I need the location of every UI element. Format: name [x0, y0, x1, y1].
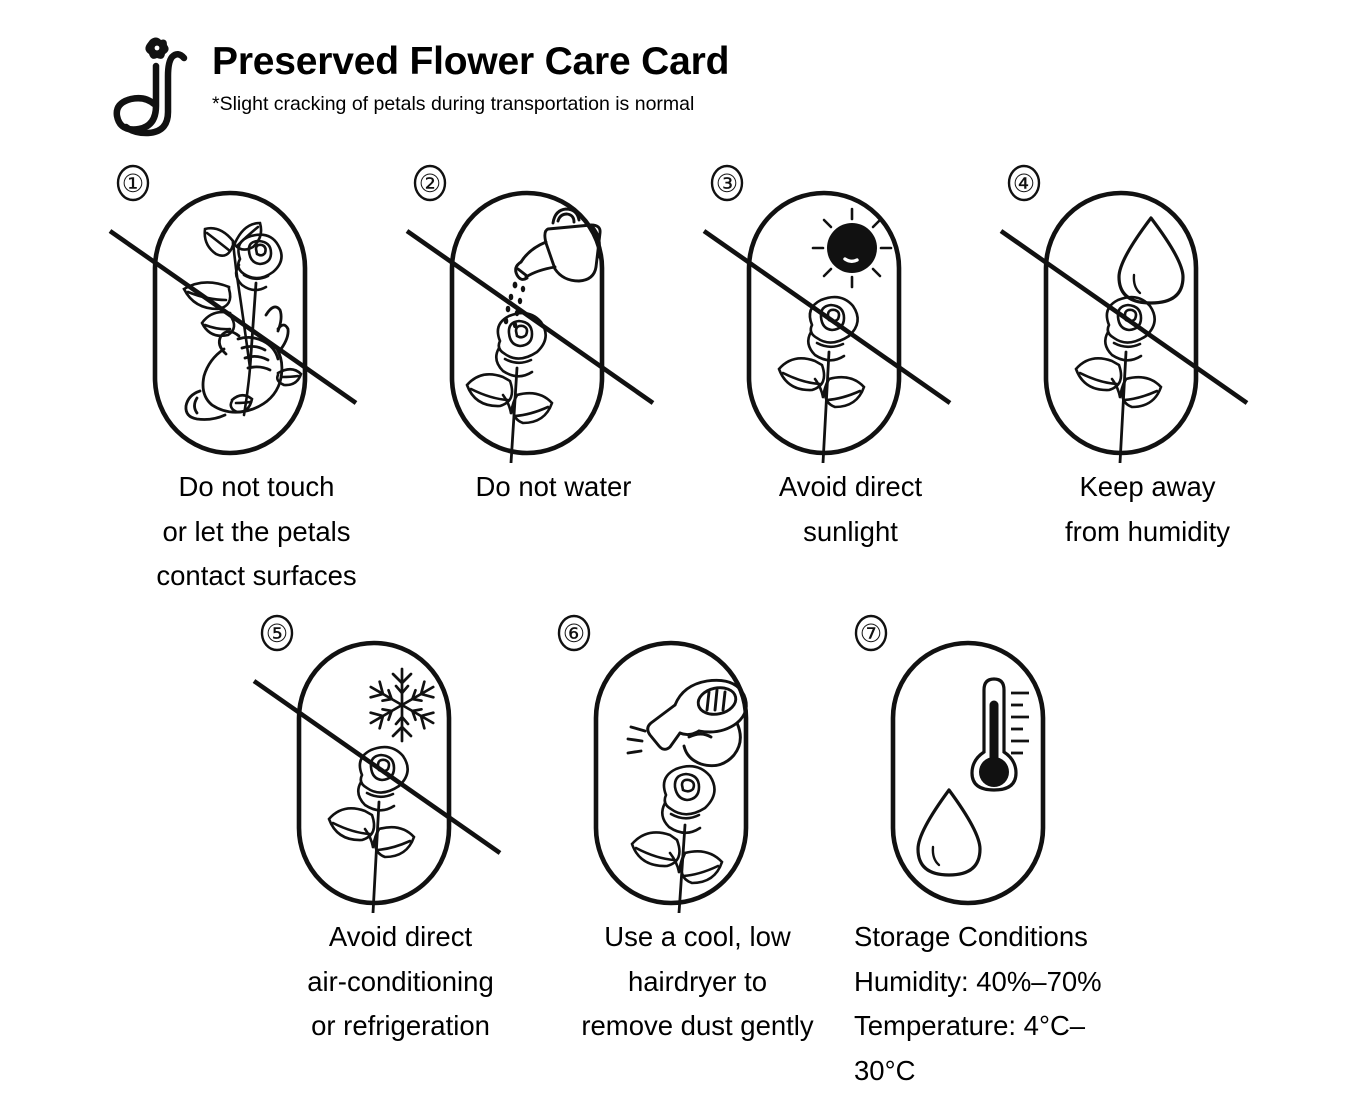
capsule-outline-3	[749, 193, 899, 453]
rose-icon-5	[329, 747, 414, 913]
card-header: Preserved Flower Care Card *Slight crack…	[108, 32, 729, 138]
step-number-badge-1: ①	[118, 166, 148, 200]
care-caption-2: Do not water	[476, 465, 632, 510]
care-caption-6: Use a cool, low hairdryer to remove dust…	[581, 915, 813, 1049]
jf-monogram-flower-logo	[108, 34, 200, 138]
care-step-6: ⑥	[549, 613, 846, 1093]
rose-icon-3	[779, 297, 864, 463]
capsule-outline-5	[299, 643, 449, 903]
care-step-2: ②	[405, 163, 702, 599]
step-number-6: ⑥	[563, 621, 585, 648]
rose-icon-4	[1076, 297, 1161, 463]
step-number-2: ②	[419, 171, 441, 198]
capsule-outline-4	[1046, 193, 1196, 453]
care-caption-7: Storage Conditions Humidity: 40%–70% Tem…	[846, 915, 1143, 1093]
step-number-badge-2: ②	[415, 166, 445, 200]
care-steps-row-1: ①	[108, 163, 1296, 599]
care-icon-5-stage: ⑤	[252, 613, 549, 913]
care-caption-1: Do not touch or let the petals contact s…	[156, 465, 356, 599]
water-droplet-icon	[1119, 218, 1183, 303]
care-caption-4: Keep away from humidity	[1065, 465, 1230, 554]
care-steps-row-2: ⑤	[252, 613, 1143, 1093]
care-step-5: ⑤	[252, 613, 549, 1093]
step-number-7: ⑦	[860, 621, 882, 648]
care-step-1: ①	[108, 163, 405, 599]
step-number-5: ⑤	[266, 621, 288, 648]
thermometer-icon	[972, 679, 1029, 790]
capsule-outline-1	[155, 193, 305, 453]
rose-icon-1	[184, 223, 301, 415]
step-number-1: ①	[122, 171, 144, 198]
care-caption-5: Avoid direct air-conditioning or refrige…	[307, 915, 494, 1049]
step-number-badge-5: ⑤	[262, 616, 292, 650]
step-number-4: ④	[1013, 171, 1035, 198]
sun-icon	[813, 209, 891, 287]
page-title: Preserved Flower Care Card	[212, 42, 729, 81]
care-icon-6-stage: ⑥	[549, 613, 846, 913]
prohibition-slash-1	[110, 231, 356, 403]
care-step-4: ④	[999, 163, 1296, 599]
care-caption-3: Avoid direct sunlight	[779, 465, 922, 554]
step-number-badge-7: ⑦	[856, 616, 886, 650]
care-icon-7-stage: ⑦	[846, 613, 1143, 913]
step-number-badge-4: ④	[1009, 166, 1039, 200]
step-number-badge-6: ⑥	[559, 616, 589, 650]
care-step-7: ⑦	[846, 613, 1143, 1093]
prohibition-slash-2	[407, 231, 653, 403]
water-droplet-icon-7	[918, 790, 980, 875]
capsule-outline-7	[893, 643, 1043, 903]
step-number-3: ③	[716, 171, 738, 198]
rose-icon-2	[467, 313, 552, 463]
care-icon-4-stage: ④	[999, 163, 1296, 463]
care-step-3: ③	[702, 163, 999, 599]
snowflake-icon	[366, 669, 437, 741]
page-subtitle: *Slight cracking of petals during transp…	[212, 95, 729, 115]
hairdryer-icon	[628, 680, 746, 765]
care-icon-1-stage: ①	[108, 163, 405, 463]
step-number-badge-3: ③	[712, 166, 742, 200]
care-icon-2-stage: ②	[405, 163, 702, 463]
care-icon-3-stage: ③	[702, 163, 999, 463]
